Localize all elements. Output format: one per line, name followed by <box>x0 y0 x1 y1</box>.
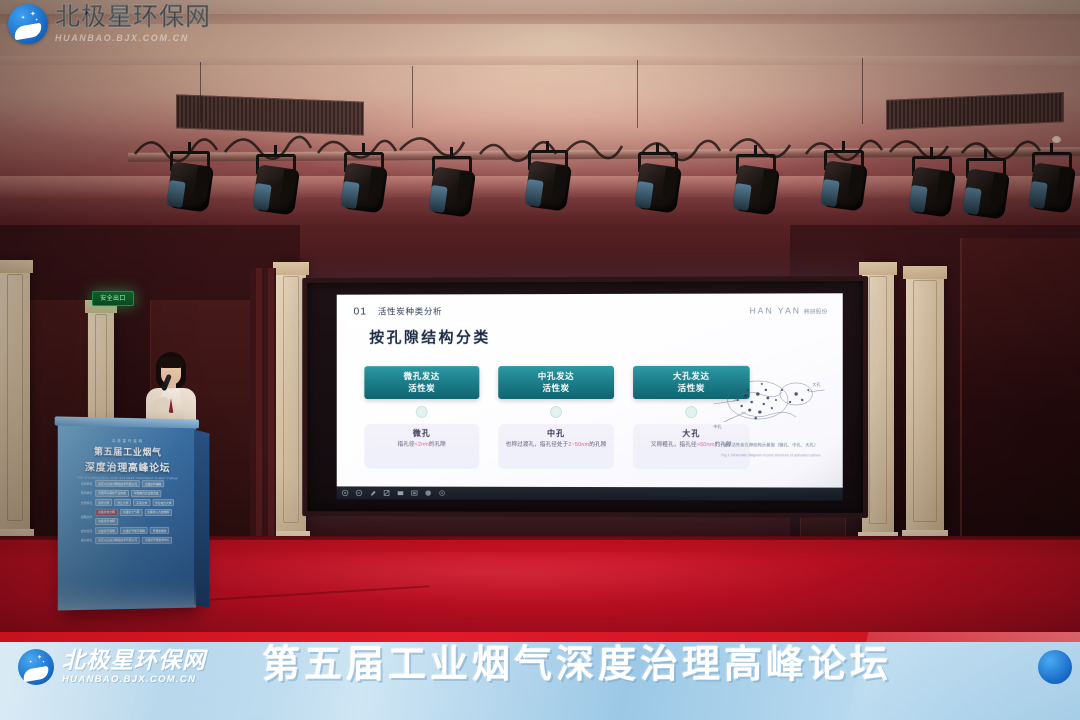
podium-sponsor-list: 主办单位 北京火山动力网络技术有限公司 北极星环保网 协办单位 中国环境保护产业… <box>66 479 187 546</box>
podium-title-line2: 深度治理高峰论坛 <box>58 458 196 475</box>
podium-sponsor-key: 媒体支持 <box>66 529 92 533</box>
suspension-cable <box>862 58 863 124</box>
screenshot-root: 安全出口 01 活性炭种类分析 HAN YAN 韩研股份 按孔隙结构分类 微孔发… <box>0 0 1080 720</box>
podium-sponsor-key: 协办单位 <box>66 491 92 495</box>
wall-pilaster <box>906 266 944 546</box>
speaker-fringe <box>159 357 183 368</box>
company-logo-en: HAN YAN <box>749 305 801 315</box>
stage-spotlight <box>732 154 780 216</box>
stage-spotlight <box>1028 152 1076 214</box>
connector-dot-icon <box>550 406 562 418</box>
pointer-icon[interactable] <box>355 489 362 496</box>
banner-right-globe-icon <box>1038 650 1072 684</box>
connector-dot-icon <box>416 406 428 418</box>
company-logo-cn: 韩研股份 <box>804 307 827 315</box>
detail-highlight: 2~50nm <box>568 442 589 448</box>
stage-spotlight <box>908 156 956 218</box>
zoom-icon[interactable] <box>411 490 418 497</box>
podium-sponsor-chip: 北极星火力发电网 <box>144 509 172 516</box>
podium-sponsor-key: 支持单位 <box>66 500 92 504</box>
category-badge-line2: 活性炭 <box>408 383 435 394</box>
podium-sponsor-chip: 华北电力大学 <box>152 499 174 506</box>
stage-spotlight <box>166 151 214 213</box>
watermark-brand-cn: 北极星环保网 <box>55 5 211 30</box>
detail-highlight: <2nm <box>415 442 429 448</box>
banner-brand-en: HUANBAO.BJX.COM.CN <box>62 674 206 685</box>
stage-spotlight <box>962 158 1010 220</box>
top-watermark: ✦ ✦ ✦ 北极星环保网 HUANBAO.BJX.COM.CN <box>8 4 211 44</box>
category-badge-line1: 微孔发达 <box>404 371 440 382</box>
podium-sponsor-chip: 浙江大学 <box>114 499 131 506</box>
detail-pre: 也称过渡孔，指孔径处于 <box>506 442 568 448</box>
banner-red-stripe <box>0 632 1080 642</box>
right-door <box>960 238 1080 538</box>
podium-sponsor-chip: 北极星环保网 <box>95 527 118 534</box>
podium-sponsor-chip: 北极星售电网 <box>95 518 118 525</box>
detail-body: 指孔径<2nm的孔隙 <box>370 441 473 449</box>
connector-dot-row <box>364 406 749 418</box>
suspension-cable <box>200 62 201 122</box>
podium-sponsor-key: 战略合作 <box>66 514 92 518</box>
banner-event-title: 第五届工业烟气深度治理高峰论坛 <box>262 646 892 684</box>
detail-title: 微孔 <box>370 428 473 439</box>
pen-icon[interactable] <box>342 489 349 496</box>
detail-post: 的孔隙 <box>589 442 606 448</box>
globe-star-icon: ✦ ✦ ✦ <box>18 649 54 685</box>
bottom-event-banner: ✦ ✦ ✦ 北极星环保网 HUANBAO.BJX.COM.CN 第五届工业烟气深… <box>0 632 1080 720</box>
podium-sponsor-chip: 北京火山动力网络技术有限公司 <box>95 480 140 487</box>
slide-header: 01 活性炭种类分析 <box>354 305 443 317</box>
banner-brand-cn: 北极星环保网 <box>62 649 206 672</box>
connector-dot-icon <box>685 406 697 418</box>
detail-card: 中孔 也称过渡孔，指孔径处于2~50nm的孔隙 <box>498 424 614 469</box>
ceiling-band <box>0 56 1080 65</box>
category-badge: 中孔发达 活性炭 <box>498 366 614 399</box>
podium-sponsor-chip: 东南大学 <box>133 499 150 506</box>
podium-sponsor-chip: 中国环境保护产业协会 <box>95 489 129 496</box>
slides-icon[interactable] <box>397 490 404 497</box>
podium-sponsor-row: 支持单位 清华大学 浙江大学 东南大学 华北电力大学 <box>66 499 187 506</box>
slide-section-title: 活性炭种类分析 <box>378 305 442 317</box>
slide-heading: 按孔隙结构分类 <box>369 326 490 347</box>
stage-spotlight <box>428 156 476 218</box>
led-screen[interactable]: 01 活性炭种类分析 HAN YAN 韩研股份 按孔隙结构分类 微孔发达 活性炭… <box>302 276 868 518</box>
slide-section-number: 01 <box>354 306 368 318</box>
podium-title-line1: 第五届工业烟气 <box>58 444 196 459</box>
lectern-podium: 北极星环保网 第五届工业烟气 深度治理高峰论坛 THE 5TH INDUSTRI… <box>58 423 196 611</box>
podium-sponsor-chip: 环保新媒体 <box>150 527 169 534</box>
category-badge-row: 微孔发达 活性炭 中孔发达 活性炭 大孔发达 活性炭 <box>364 366 749 399</box>
presentation-toolbar[interactable] <box>337 486 843 500</box>
watermark-brand-en: HUANBAO.BJX.COM.CN <box>55 33 211 43</box>
figure-caption: 图1 活性炭孔隙结构示意图（微孔、中孔、大孔） <box>711 442 830 448</box>
podium-side <box>194 430 209 608</box>
podium-sponsor-chip: 北极星大气网 <box>120 508 142 515</box>
stage-spotlight <box>252 154 300 216</box>
suspension-cable <box>412 66 413 128</box>
detail-post: 的孔隙 <box>429 442 446 448</box>
podium-sponsor-row: 主办单位 北京火山动力网络技术有限公司 北极星环保网 <box>66 479 187 487</box>
detail-pre: 又称粗孔，指孔径 <box>651 442 697 448</box>
globe-star-icon: ✦ ✦ ✦ <box>8 4 48 44</box>
podium-sponsor-row: 协办单位 中国环境保护产业协会 中国电力企业联合会 <box>66 489 187 497</box>
stage-spotlight <box>340 152 388 214</box>
podium-sponsor-row: 战略合作 北极星电力网 北极星大气网 北极星火力发电网 北极星售电网 <box>66 508 187 524</box>
figure-caption-sub: Fig.1 Schematic diagram of pore structur… <box>711 453 830 457</box>
podium-sponsor-key: 承办单位 <box>66 538 92 542</box>
exit-sign-label: 安全出口 <box>100 296 126 302</box>
stage-curtain <box>250 268 276 543</box>
pore-structure-figure: 中孔 大孔 图1 活性炭孔隙结构示意图（微孔、中孔、大孔） Fig.1 Sche… <box>711 356 830 461</box>
eraser-icon[interactable] <box>383 489 390 496</box>
banner-logo: ✦ ✦ ✦ 北极星环保网 HUANBAO.BJX.COM.CN <box>18 649 206 685</box>
stage-spotlight <box>820 150 868 212</box>
podium-sponsor-chip: 北极星电力网 <box>95 508 118 515</box>
podium-skyline-graphic <box>58 574 196 610</box>
podium-header: 北极星环保网 第五届工业烟气 深度治理高峰论坛 THE 5TH INDUSTRI… <box>58 437 196 481</box>
podium-sponsor-chip: 北极星节能环保网 <box>120 527 148 534</box>
category-badge: 微孔发达 活性炭 <box>364 366 479 399</box>
exit-sign: 安全出口 <box>92 291 134 306</box>
stage-spotlight <box>524 150 572 212</box>
category-badge-line1: 中孔发达 <box>538 371 574 382</box>
podium-top <box>55 416 199 428</box>
detail-pre: 指孔径 <box>398 442 415 448</box>
category-badge-line2: 活性炭 <box>542 383 569 394</box>
detail-title: 中孔 <box>504 428 608 439</box>
settings-icon[interactable] <box>439 490 446 497</box>
highlighter-icon[interactable] <box>369 489 376 496</box>
detail-card-row: 微孔 指孔径<2nm的孔隙 中孔 也称过渡孔，指孔径处于2~50nm的孔隙 大孔… <box>364 424 749 469</box>
wall-pilaster <box>0 260 30 545</box>
stage-spotlight <box>634 152 682 214</box>
presentation-slide[interactable]: 01 活性炭种类分析 HAN YAN 韩研股份 按孔隙结构分类 微孔发达 活性炭… <box>337 293 843 500</box>
suspension-cable <box>637 60 638 128</box>
podium-sponsor-key: 主办单位 <box>66 481 92 485</box>
podium-sponsor-chip: 清华大学 <box>95 499 112 506</box>
podium-sponsor-row: 承办单位 北京火山动力网络技术有限公司 北极星环保会展中心 <box>66 536 187 544</box>
podium-sponsor-chip: 北极星环保网 <box>142 480 164 487</box>
category-badge-line2: 活性炭 <box>678 382 705 394</box>
detail-card: 微孔 指孔径<2nm的孔隙 <box>364 424 479 469</box>
category-badge-line1: 大孔发达 <box>673 371 710 383</box>
podium-sponsor-row: 媒体支持 北极星环保网 北极星节能环保网 环保新媒体 <box>66 527 187 534</box>
podium-sponsor-chip: 北极星环保会展中心 <box>142 536 172 543</box>
more-icon[interactable] <box>425 490 432 497</box>
podium-sponsor-chip: 北京火山动力网络技术有限公司 <box>95 536 140 543</box>
podium-sponsor-chip: 中国电力企业联合会 <box>131 490 162 497</box>
presenter-company-logo: HAN YAN 韩研股份 <box>749 305 827 315</box>
podium-prelabel: 北极星环保网 <box>58 437 196 444</box>
svg-text:大孔: 大孔 <box>812 382 820 387</box>
svg-text:中孔: 中孔 <box>713 424 721 429</box>
detail-body: 也称过渡孔，指孔径处于2~50nm的孔隙 <box>504 441 608 450</box>
